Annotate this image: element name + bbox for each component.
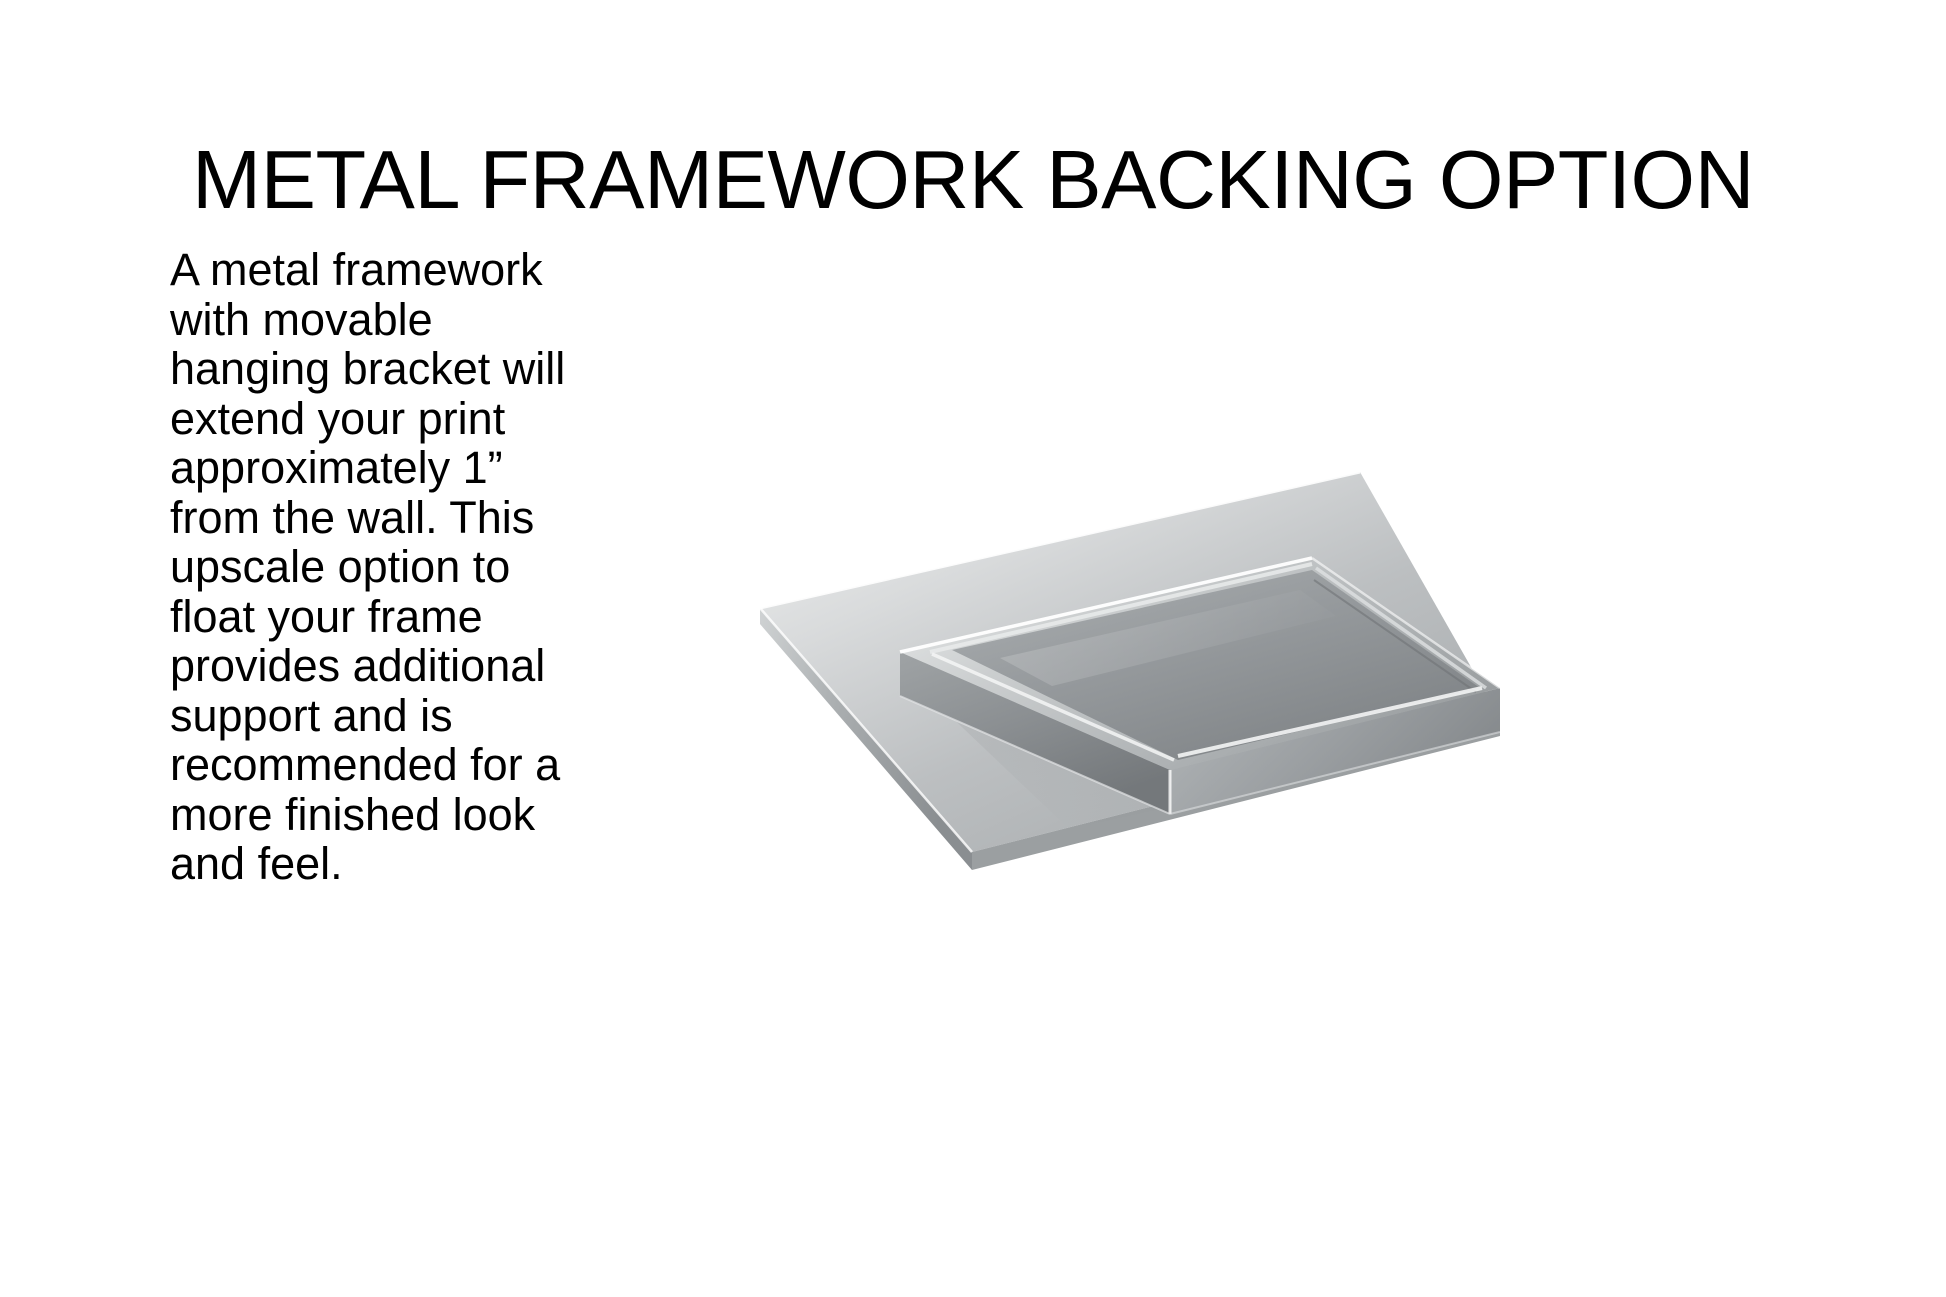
metal-framework-illustration — [600, 400, 1500, 870]
body-paragraph: A metal framework with movable hanging b… — [170, 245, 600, 889]
product-photo — [600, 400, 1500, 870]
page-title: METAL FRAMEWORK BACKING OPTION — [0, 134, 1946, 226]
slide-canvas: METAL FRAMEWORK BACKING OPTION A metal f… — [0, 0, 1946, 1297]
